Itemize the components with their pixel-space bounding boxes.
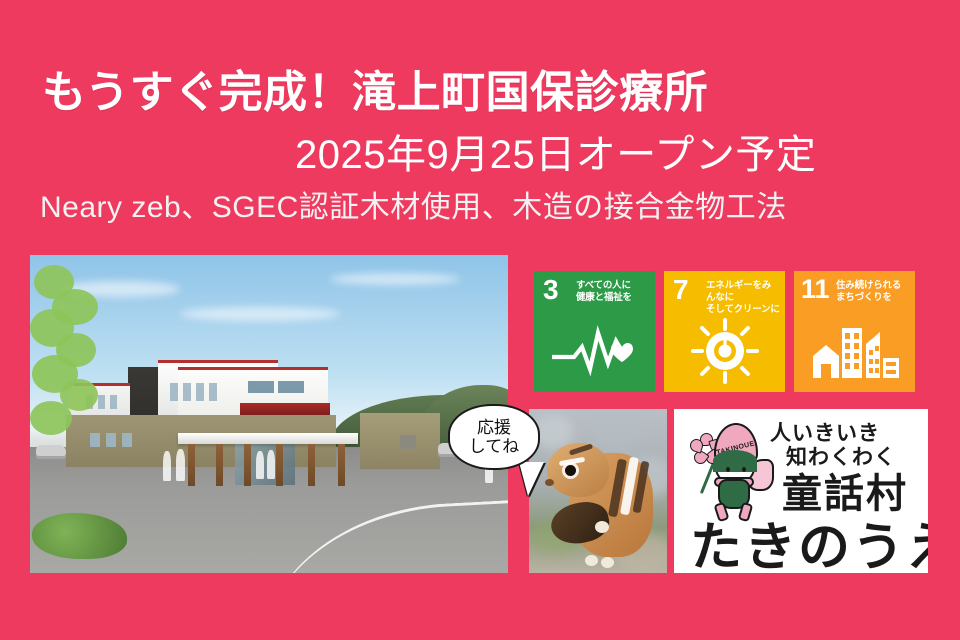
speech-bubble: 応援 してね [448, 404, 540, 470]
canopy-column [216, 444, 223, 486]
fairy-hair [713, 450, 757, 472]
sdg-badge-number: 7 [673, 276, 689, 304]
sdg-badge-title-line2: まちづくりを [836, 292, 910, 304]
sdg-badge-title: エネルギーをみんなに そしてクリーンに [706, 280, 780, 316]
cloud-shape [180, 307, 340, 321]
sdg-badge-title-line2: 健康と福祉を [576, 292, 650, 304]
window-shape [170, 383, 178, 401]
chipmunk-nose [545, 479, 554, 486]
window-shape [400, 435, 416, 449]
sdg-badge-title: すべての人に 健康と福祉を [576, 280, 650, 304]
sdg-badge-3: 3 すべての人に 健康と福祉を [534, 271, 655, 392]
page-title: もうすぐ完成！滝上町国保診療所 [42, 56, 708, 120]
open-date-line: 2025年9月25日オープン予定 [295, 122, 816, 180]
sdg-badge-number: 11 [801, 276, 830, 303]
heartbeat-icon [534, 320, 655, 382]
poster-root: もうすぐ完成！滝上町国保診療所 2025年9月25日オープン予定 Neary z… [0, 0, 960, 640]
sdg-badge-row: 3 すべての人に 健康と福祉を 7 エネルギーをみんなに そしてクリーンに [534, 271, 915, 392]
speech-bubble-line2: してね [469, 437, 520, 456]
chipmunk-image [529, 409, 667, 573]
canopy-column [308, 444, 315, 486]
town-logo-takinoue: たきのうえ [690, 505, 928, 573]
sdg-badge-title-line1: すべての人に [576, 280, 650, 292]
speech-bubble-tail [519, 462, 544, 496]
sdg-badge-7: 7 エネルギーをみんなに そしてクリーンに [664, 271, 785, 392]
speech-bubble-line1: 応援 [477, 418, 511, 437]
window-shape [248, 381, 274, 393]
window-shape [196, 383, 204, 401]
window-shape [183, 383, 191, 401]
sdg-badge-title-line1: エネルギーをみんなに [706, 280, 780, 304]
entrance-canopy [178, 433, 358, 444]
canopy-column [338, 444, 345, 486]
sdg-badge-title-line2: そしてクリーンに [706, 304, 780, 316]
chipmunk-eye [565, 465, 576, 476]
building-red-roof [240, 403, 330, 415]
figure-person [163, 451, 171, 481]
cityscape-icon [794, 320, 915, 382]
town-logo-card: TAKINOUE 人いきいき 知わくわく 童話村 たきのうえ [674, 409, 928, 573]
window-shape [209, 383, 217, 401]
spec-line: Neary zeb、SGEC認証木材使用、木造の接合金物工法 [40, 182, 787, 226]
window-shape [278, 381, 304, 393]
sdg-badge-number: 3 [543, 276, 559, 304]
cloud-shape [330, 273, 460, 285]
building-render-image [30, 255, 508, 573]
canopy-column [188, 444, 195, 486]
figure-person [176, 449, 185, 481]
figure-person [256, 451, 264, 479]
tree-foliage [30, 255, 150, 455]
canopy-column [276, 444, 283, 486]
sun-power-icon [664, 320, 785, 382]
figure-person [267, 450, 275, 479]
takinoue-fairy-mascot-icon: TAKINOUE [684, 419, 780, 515]
canopy-column [244, 444, 251, 486]
sdg-badge-title: 住み続けられる まちづくりを [836, 280, 910, 304]
sdg-badge-11: 11 住み続けられる まちづくりを [794, 271, 915, 392]
sdg-badge-title-line1: 住み続けられる [836, 280, 910, 292]
